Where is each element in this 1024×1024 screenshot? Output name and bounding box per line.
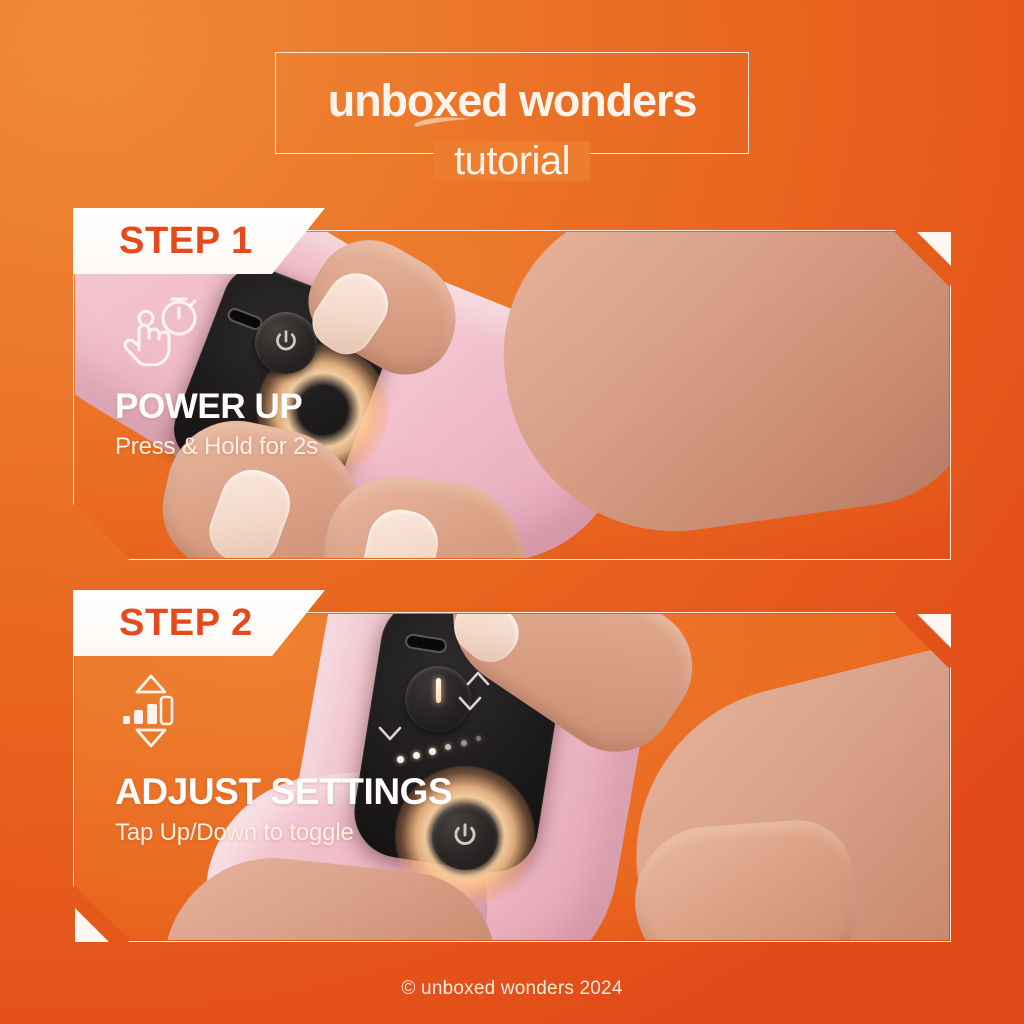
- corner-accent-top-right: [917, 614, 951, 648]
- header: unboxed wonders tutorial: [0, 52, 1024, 154]
- footer-copyright: © unboxed wonders 2024: [0, 978, 1024, 1000]
- brand-title: unboxed wonders: [328, 78, 697, 123]
- hand-tap-timer-icon: [115, 294, 535, 371]
- step-2-title: ADJUST SETTINGS: [115, 773, 535, 812]
- step-card-1: STEP 1 POWER UP Press & Hold for 2s: [73, 230, 951, 560]
- step-2-banner-label: STEP 2: [119, 604, 253, 642]
- header-subtitle: tutorial: [434, 141, 590, 181]
- corner-accent-top-right: [917, 232, 951, 266]
- level-up-down-icon: [115, 672, 535, 755]
- step-2-copy: ADJUST SETTINGS Tap Up/Down to toggle: [115, 672, 535, 846]
- header-frame: unboxed wonders tutorial: [275, 52, 749, 154]
- header-subtitle-wrap: tutorial: [276, 141, 748, 181]
- step-1-copy: POWER UP Press & Hold for 2s: [115, 294, 535, 460]
- step-1-banner-label: STEP 1: [119, 222, 253, 260]
- step-card-2: STEP 2 ADJUST SETTINGS Tap Up/Down to to…: [73, 612, 951, 942]
- corner-accent-bottom-left: [75, 908, 109, 942]
- step-1-subtitle: Press & Hold for 2s: [115, 433, 535, 461]
- step-1-title: POWER UP: [115, 389, 535, 426]
- step-2-subtitle: Tap Up/Down to toggle: [115, 819, 535, 847]
